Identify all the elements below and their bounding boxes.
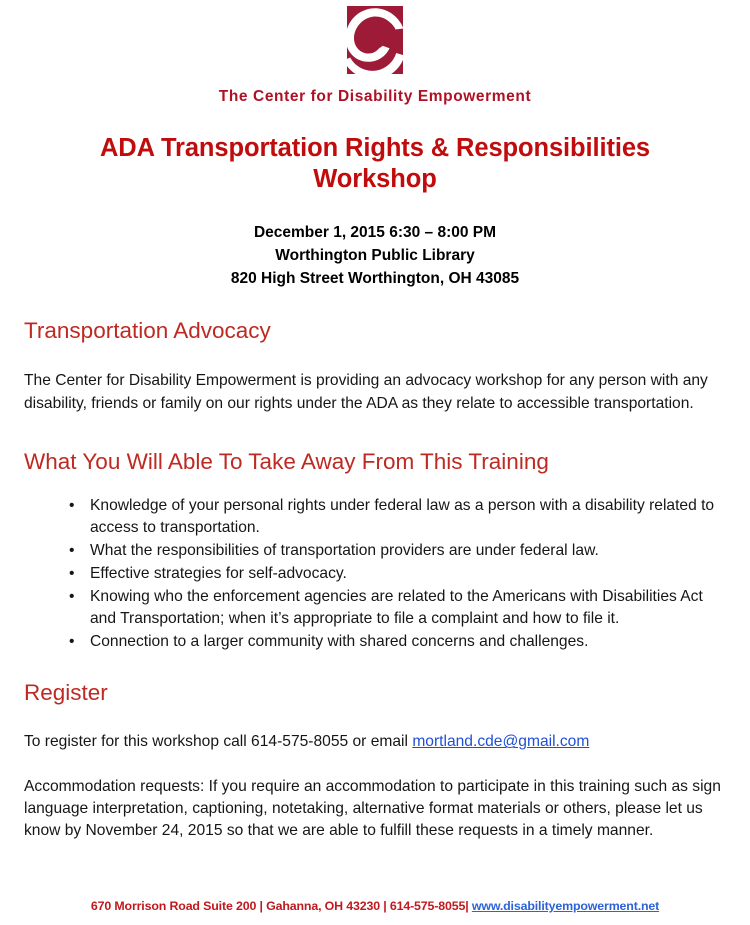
list-item: •Effective strategies for self-advocacy.: [69, 563, 726, 585]
list-item-text: Effective strategies for self-advocacy.: [90, 565, 347, 582]
footer-address: 670 Morrison Road Suite 200: [91, 899, 256, 913]
organization-tagline: The Center for Disability Empowerment: [24, 88, 726, 107]
list-item-text: Knowing who the enforcement agencies are…: [90, 588, 703, 627]
footer-separator: |: [465, 899, 472, 913]
list-item-text: Knowledge of your personal rights under …: [90, 497, 714, 536]
flyer-page: The Center for Disability Empowerment AD…: [0, 0, 750, 925]
takeaway-list: •Knowledge of your personal rights under…: [24, 495, 726, 654]
list-item: •Knowledge of your personal rights under…: [69, 495, 726, 539]
footer: 670 Morrison Road Suite 200 | Gahanna, O…: [0, 899, 750, 913]
list-item: •Knowing who the enforcement agencies ar…: [69, 586, 726, 630]
email-link[interactable]: mortland.cde@gmail.com: [412, 733, 589, 750]
event-address: 820 High Street Worthington, OH 43085: [24, 267, 726, 290]
footer-separator: |: [256, 899, 266, 913]
page-title: ADA Transportation Rights & Responsibili…: [24, 133, 726, 195]
bullet-icon: •: [69, 540, 74, 562]
bullet-icon: •: [69, 586, 74, 608]
cde-e-swirl-logo-icon: [341, 6, 409, 80]
advocacy-paragraph: The Center for Disability Empowerment is…: [24, 370, 726, 414]
event-details: December 1, 2015 6:30 – 8:00 PM Worthing…: [24, 221, 726, 291]
bullet-icon: •: [69, 563, 74, 585]
page-title-line-2: Workshop: [313, 165, 436, 193]
section-heading-advocacy: Transportation Advocacy: [24, 318, 726, 344]
register-instruction-text: To register for this workshop call 614-5…: [24, 733, 412, 750]
list-item: •Connection to a larger community with s…: [69, 631, 726, 653]
footer-website-link[interactable]: www.disabilityempowerment.net: [472, 899, 659, 913]
section-heading-takeaway: What You Will Able To Take Away From Thi…: [24, 449, 726, 475]
register-instruction: To register for this workshop call 614-5…: [24, 731, 726, 753]
bullet-icon: •: [69, 495, 74, 517]
section-heading-register: Register: [24, 680, 726, 706]
accommodation-paragraph: Accommodation requests: If you require a…: [24, 776, 726, 842]
footer-separator: |: [380, 899, 390, 913]
bullet-icon: •: [69, 631, 74, 653]
list-item-text: What the responsibilities of transportat…: [90, 542, 599, 559]
logo-container: [24, 0, 726, 80]
list-item: •What the responsibilities of transporta…: [69, 540, 726, 562]
footer-phone: 614-575-8055: [390, 899, 465, 913]
event-datetime: December 1, 2015 6:30 – 8:00 PM: [24, 221, 726, 244]
footer-city-state-zip: Gahanna, OH 43230: [266, 899, 380, 913]
page-title-line-1: ADA Transportation Rights & Responsibili…: [100, 134, 650, 162]
list-item-text: Connection to a larger community with sh…: [90, 633, 588, 650]
event-venue: Worthington Public Library: [24, 244, 726, 267]
